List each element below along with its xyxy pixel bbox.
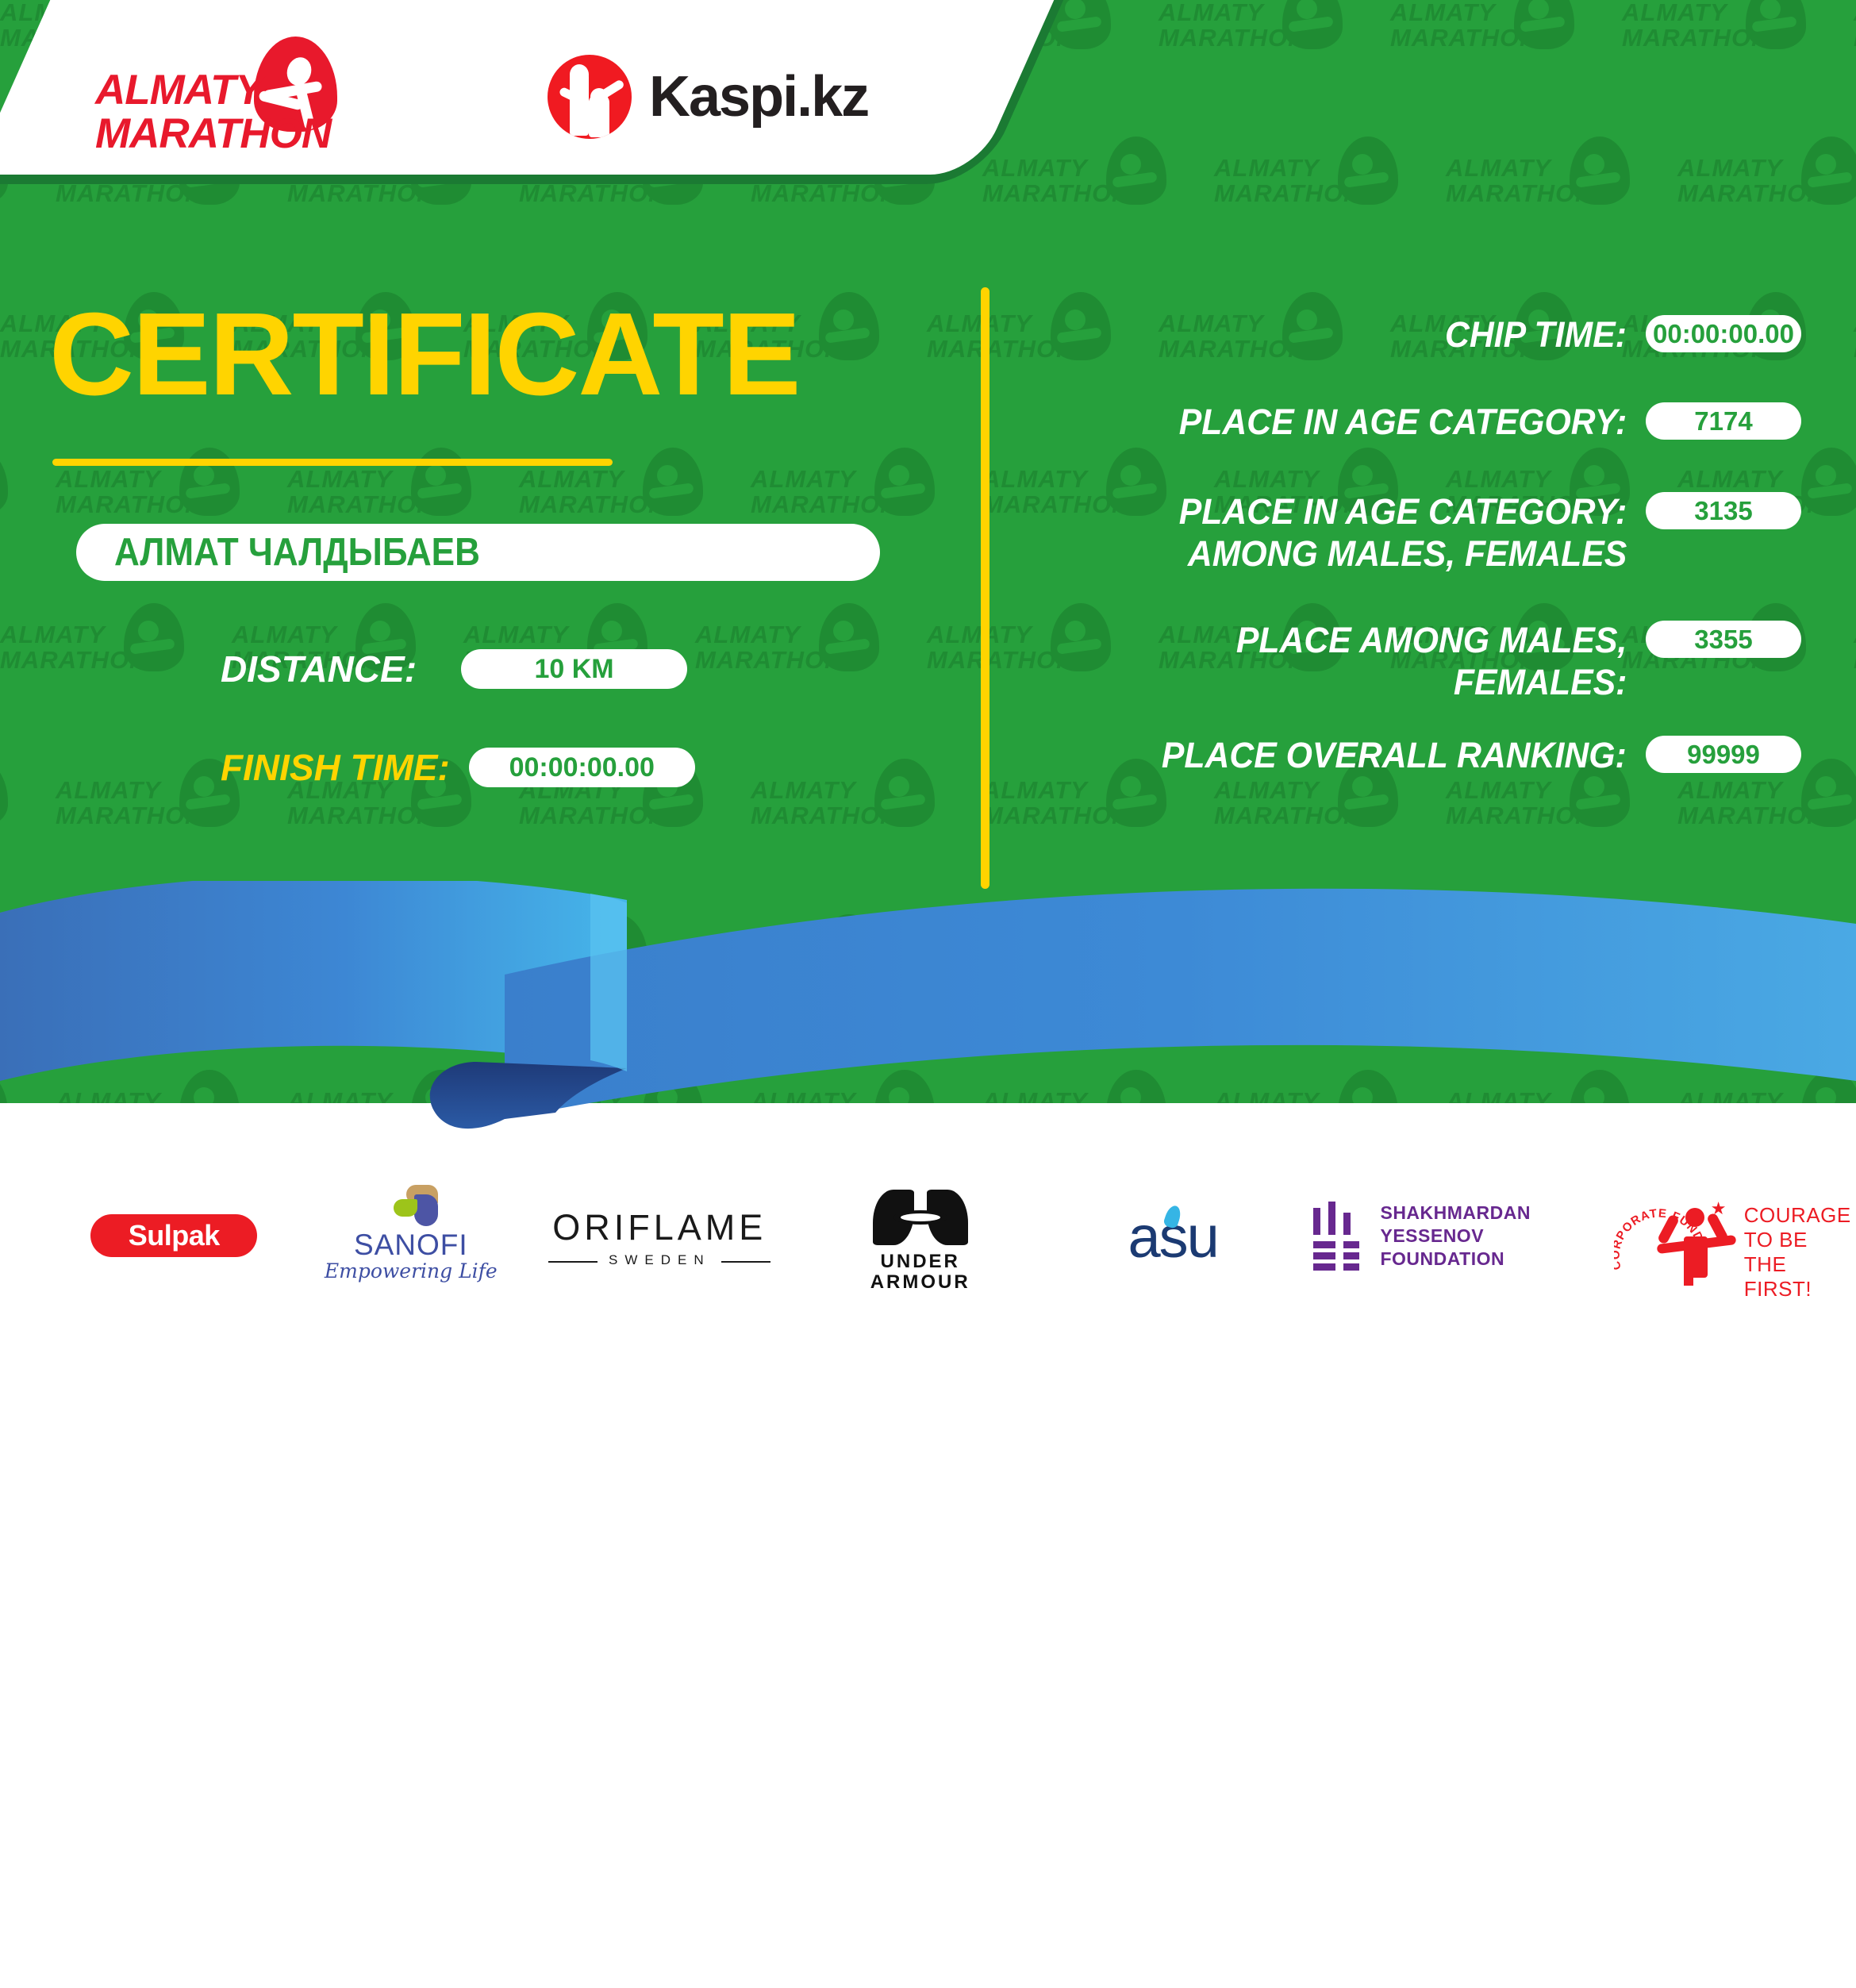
sponsor-logo-sanofi: SANOFI Empowering Life (293, 1184, 530, 1287)
stat-label: PLACE IN AGE CATEGORY: AMONG MALES, FEMA… (1178, 490, 1627, 575)
watermark-tile: ALMATY MARATHON (751, 778, 941, 897)
stat-row-place-overall: PLACE OVERALL RANKING: 99999 (1032, 734, 1801, 776)
watermark-tile: ALMATY MARATHON (0, 467, 14, 586)
watermark-tile: ALMATY MARATHON (0, 622, 190, 741)
sanofi-wordmark: SANOFI (324, 1229, 498, 1261)
sponsor-strip: Sulpak SANOFI Empowering Life ORIFLAME S… (0, 1159, 1856, 1313)
distance-value: 10 KM (534, 655, 613, 683)
logo-line-2: MARATHON (95, 110, 331, 157)
stat-value-pill: 99999 (1646, 736, 1801, 773)
finish-time-value-pill: 00:00:00.00 (469, 748, 695, 787)
finish-time-label: FINISH TIME: (221, 748, 450, 786)
watermark-tile: ALMATY MARATHON (1214, 156, 1404, 275)
running-person-icon: ★ (1660, 1198, 1736, 1278)
ribbon-slogan: RUN FOR SENSATIONS (663, 1795, 1596, 1984)
sponsor-logo-asu: asu (1051, 1184, 1296, 1287)
stat-value-pill: 3355 (1646, 621, 1801, 658)
finish-time-value: 00:00:00.00 (509, 753, 655, 782)
sulpak-pill: Sulpak (90, 1214, 257, 1257)
watermark-tile: ALMATY MARATHON (1677, 156, 1856, 275)
sulpak-wordmark: Sulpak (129, 1221, 220, 1251)
watermark-tile: ALMATY MARATHON (1622, 0, 1812, 119)
stat-label: PLACE AMONG MALES, FEMALES: (1236, 619, 1627, 703)
participant-name-value: АЛМАТ ЧАЛДЫБАЕВ (114, 533, 480, 572)
watermark-tile: ALMATY MARATHON (519, 778, 709, 897)
stat-value-pill: 7174 (1646, 402, 1801, 440)
distance-row: DISTANCE: 10 KM (221, 649, 687, 689)
stat-label: CHIP TIME: (1445, 313, 1627, 356)
under-armour-wordmark: UNDER ARMOUR (829, 1252, 1012, 1293)
stat-row-place-age-category: PLACE IN AGE CATEGORY: 7174 (1032, 401, 1801, 443)
distance-label: DISTANCE: (221, 650, 417, 688)
almaty-marathon-wordmark: ALMATY MARATHON (95, 68, 331, 156)
oriflame-wordmark: ORIFLAME (548, 1209, 770, 1247)
almaty-marathon-logo: ALMATY MARATHON (95, 46, 357, 148)
watermark-tile: ALMATY MARATHON (1446, 156, 1636, 275)
stat-value: 99999 (1687, 741, 1760, 768)
ribbon-ordinal: st (458, 1791, 505, 1844)
ribbon-day: 21 (305, 1782, 447, 1915)
stat-value: 3355 (1694, 626, 1752, 653)
page-title: CERTIFICATE (49, 295, 799, 414)
watermark-tile: ALMATY MARATHON (287, 778, 478, 897)
distance-value-pill: 10 KM (461, 649, 687, 689)
kaspi-wordmark: Kaspi.kz (649, 68, 868, 125)
stat-value-pill: 00:00:00.00 (1646, 315, 1801, 352)
kaspi-logo: Kaspi.kz (548, 52, 868, 141)
oriflame-subtitle: SWEDEN (548, 1253, 770, 1267)
sanofi-mark-icon (394, 1185, 440, 1226)
stat-row-chip-time: CHIP TIME: 00:00:00.00 (1032, 313, 1801, 356)
logo-line-1: ALMATY (95, 67, 263, 113)
stat-row-place-among-gender: PLACE AMONG MALES, FEMALES: 3355 (1032, 619, 1801, 703)
finish-time-row: FINISH TIME: 00:00:00.00 (221, 748, 695, 787)
stat-label: PLACE OVERALL RANKING: (1162, 734, 1627, 776)
watermark-tile: ALMATY MARATHON (982, 156, 1173, 275)
yessenov-mark-icon (1310, 1202, 1364, 1270)
sponsor-logo-sulpak: Sulpak (56, 1184, 293, 1287)
participant-name-field: АЛМАТ ЧАЛДЫБАЕВ (76, 524, 880, 581)
watermark-tile: ALMATY MARATHON (1390, 0, 1581, 119)
yessenov-wordmark: SHAKHMARDAN YESSENOV FOUNDATION (1380, 1202, 1580, 1271)
watermark-tile: ALMATY MARATHON (56, 778, 246, 897)
kaspi-people-icon (548, 55, 632, 139)
stat-value: 00:00:00.00 (1653, 321, 1794, 348)
sponsor-logo-yessenov-foundation: SHAKHMARDAN YESSENOV FOUNDATION (1295, 1184, 1595, 1287)
watermark-tile: ALMATY MARATHON (0, 778, 14, 897)
under-armour-mark-icon (873, 1190, 968, 1245)
watermark-tile: ALMATY MARATHON (1677, 778, 1856, 897)
sponsor-logo-courage-to-be-the-first: CORPORATE FUND ★ COURAGE TO BE THE FIRST… (1596, 1184, 1856, 1287)
title-underline (52, 459, 613, 466)
stat-value: 7174 (1694, 408, 1752, 435)
stat-label: PLACE IN AGE CATEGORY: (1178, 401, 1627, 443)
vertical-divider (981, 287, 989, 889)
sponsor-logo-under-armour: UNDER ARMOUR (790, 1184, 1051, 1287)
watermark-tile: ALMATY MARATHON (1159, 0, 1349, 119)
sponsor-logo-oriflame: ORIFLAME SWEDEN (529, 1184, 790, 1287)
watermark-tile: ALMATY MARATHON (1446, 778, 1636, 897)
courage-tagline: COURAGE TO BE THE FIRST! (1744, 1203, 1851, 1302)
stat-value-pill: 3135 (1646, 492, 1801, 529)
event-ribbon: APRIL 21 st RUN FOR SENSATIONS (0, 881, 1856, 1167)
watermark-tile: ALMATY MARATHON (1214, 778, 1404, 897)
sanofi-tagline: Empowering Life (324, 1261, 498, 1282)
watermark-tile: ALMATY MARATHON (695, 622, 886, 741)
stat-row-place-age-category-gender: PLACE IN AGE CATEGORY: AMONG MALES, FEMA… (1032, 490, 1801, 575)
stat-value: 3135 (1694, 498, 1752, 525)
watermark-tile: ALMATY MARATHON (982, 778, 1173, 897)
ribbon-month: APRIL (90, 1833, 267, 1913)
